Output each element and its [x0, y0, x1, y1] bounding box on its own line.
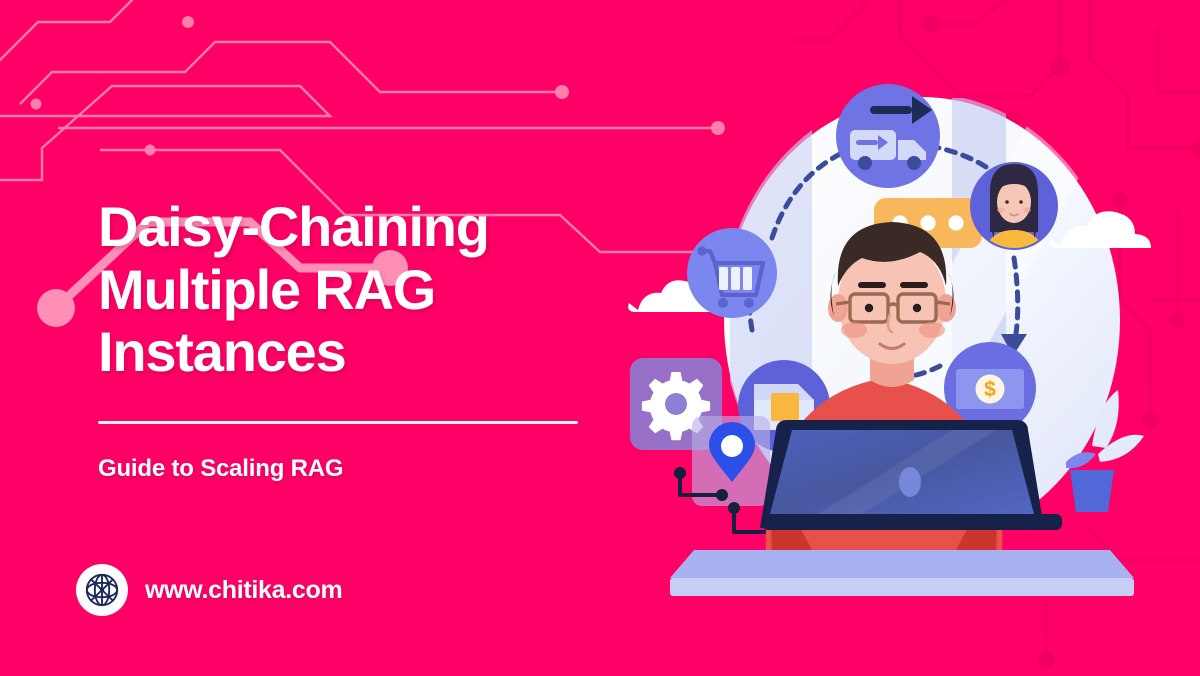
banner-canvas: Daisy-Chaining Multiple RAG Instances Gu…	[0, 0, 1200, 676]
delivery-truck-icon	[836, 84, 940, 188]
hero-illustration: $	[622, 58, 1182, 628]
desk	[670, 550, 1134, 596]
globe-network-icon	[82, 570, 122, 610]
location-pin-card	[692, 416, 770, 506]
laptop	[760, 420, 1062, 530]
shopping-cart-icon	[687, 228, 777, 318]
subtitle: Guide to Scaling RAG	[98, 455, 618, 483]
brand-logo-badge	[76, 564, 128, 616]
page-title: Daisy-Chaining Multiple RAG Instances	[98, 196, 618, 384]
brand-url-text[interactable]: www.chitika.com	[145, 576, 342, 605]
title-divider	[98, 421, 578, 424]
svg-text:$: $	[984, 378, 996, 401]
illustration-svg: $	[622, 58, 1182, 628]
brand-lockup[interactable]: www.chitika.com	[76, 564, 342, 616]
headline-block: Daisy-Chaining Multiple RAG Instances Gu…	[98, 196, 618, 483]
